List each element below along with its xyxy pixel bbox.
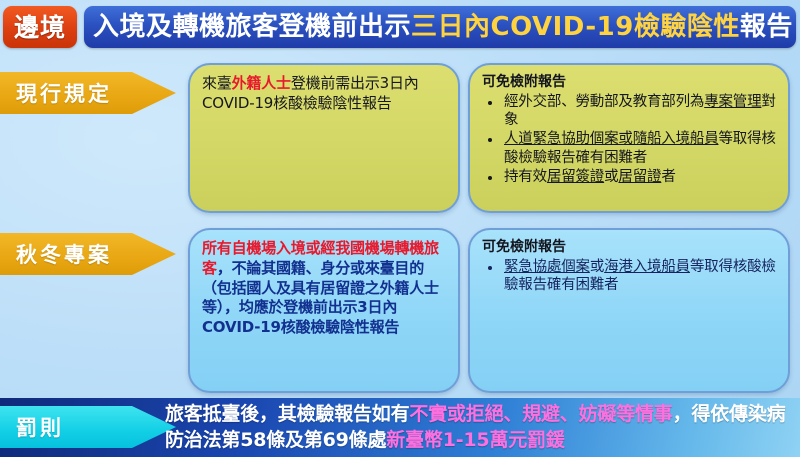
row-label-autumn-winter-program: 秋冬專案 <box>0 233 176 275</box>
page-title-part-1: 入境及轉機旅客登機前出示 <box>93 12 411 42</box>
border-badge-label: 邊境 <box>14 15 66 40</box>
autumn-winter-requirement-box: 所有自機場入境或經我國機場轉機旅客，不論其國籍、身分或來臺目的（包括國人及具有居… <box>188 228 460 393</box>
border-badge: 邊境 <box>3 6 77 48</box>
penalty-line1-plain-a: 旅客抵臺後，其檢驗報告如有 <box>165 403 409 425</box>
bullet-underline: 人道緊急協助個案或隨船入境船員 <box>504 131 719 147</box>
penalty-line2-highlight: 新臺幣1-15萬元罰鍰 <box>386 429 564 451</box>
seg-plain-a: 來臺 <box>202 74 232 92</box>
header-bar: 邊境 入境及轉機旅客登機前出示三日內COVID-19檢驗陰性報告 <box>0 4 800 50</box>
page-title-bar: 入境及轉機旅客登機前出示三日內COVID-19檢驗陰性報告 <box>84 6 796 48</box>
penalty-line1-plain-b: ， <box>673 403 692 425</box>
row-label-penalty: 罰則 <box>0 406 176 448</box>
current-rules-requirement-box: 來臺外籍人士登機前需出示3日內COVID-19核酸檢驗陰性報告 <box>188 63 460 213</box>
penalty-text: 旅客抵臺後，其檢驗報告如有不實或拒絕、規避、妨礙等情事，得依傳染病防治法第58條… <box>165 401 797 453</box>
current-rules-requirement-text: 來臺外籍人士登機前需出示3日內COVID-19核酸檢驗陰性報告 <box>202 74 448 114</box>
slide-canvas: 邊境 入境及轉機旅客登機前出示三日內COVID-19檢驗陰性報告 現行規定 來臺… <box>0 0 800 457</box>
bullet-mid: 或 <box>604 169 618 185</box>
penalty-line1-highlight: 不實或拒絕、規避、妨礙等情事 <box>409 403 672 425</box>
bullet-plain-b: 者 <box>661 169 675 185</box>
penalty-strip: 罰則 旅客抵臺後，其檢驗報告如有不實或拒絕、規避、妨礙等情事，得依傳染病防治法第… <box>0 398 800 457</box>
current-rules-exemption-heading: 可免檢附報告 <box>482 74 778 92</box>
bullet-underline: 專案管理 <box>704 94 761 110</box>
page-title-highlight: 三日內COVID-19檢驗陰性 <box>411 12 740 42</box>
bullet-plain-a: 經外交部、勞動部及教育部列為 <box>504 94 704 110</box>
row-label-penalty-text: 罰則 <box>0 412 64 442</box>
list-item: 經外交部、勞動部及教育部列為專案管理對象 <box>482 93 778 131</box>
row-label-autumn-winter-text: 秋冬專案 <box>0 239 112 269</box>
autumn-winter-exemption-list: 緊急協處個案或海港入境船員等取得核酸檢驗報告確有困難者 <box>482 258 778 296</box>
bullet-underline-2: 居留證 <box>618 169 661 185</box>
bullet-mid: 或 <box>590 259 604 275</box>
current-rules-exemption-box: 可免檢附報告 經外交部、勞動部及教育部列為專案管理對象 人道緊急協助個案或隨船入… <box>468 63 790 213</box>
bullet-plain-a: 持有效 <box>504 169 547 185</box>
bullet-underline-2: 海港入境船員 <box>604 259 690 275</box>
seg-highlight-foreign-nationals: 外籍人士 <box>232 74 291 92</box>
seg-plain-b: ，不論其國籍、身分或來臺目的（包括國人及具有居留證之外籍人士等），均應於登機前出… <box>202 259 439 336</box>
current-rules-exemption-list: 經外交部、勞動部及教育部列為專案管理對象 人道緊急協助個案或隨船入境船員等取得核… <box>482 93 778 187</box>
autumn-winter-exemption-heading: 可免檢附報告 <box>482 239 778 257</box>
autumn-winter-exemption-box: 可免檢附報告 緊急協處個案或海港入境船員等取得核酸檢驗報告確有困難者 <box>468 228 790 393</box>
row-label-current-rules-text: 現行規定 <box>0 78 112 108</box>
list-item: 人道緊急協助個案或隨船入境船員等取得核酸檢驗報告確有困難者 <box>482 130 778 168</box>
list-item: 緊急協處個案或海港入境船員等取得核酸檢驗報告確有困難者 <box>482 258 778 296</box>
page-title: 入境及轉機旅客登機前出示三日內COVID-19檢驗陰性報告 <box>84 14 793 40</box>
bullet-underline: 居留簽證 <box>547 169 604 185</box>
autumn-winter-requirement-text: 所有自機場入境或經我國機場轉機旅客，不論其國籍、身分或來臺目的（包括國人及具有居… <box>202 239 448 338</box>
page-title-part-2: 報告 <box>740 12 793 42</box>
row-label-current-rules: 現行規定 <box>0 72 176 114</box>
list-item: 持有效居留簽證或居留證者 <box>482 168 778 187</box>
bullet-underline: 緊急協處個案 <box>504 259 590 275</box>
